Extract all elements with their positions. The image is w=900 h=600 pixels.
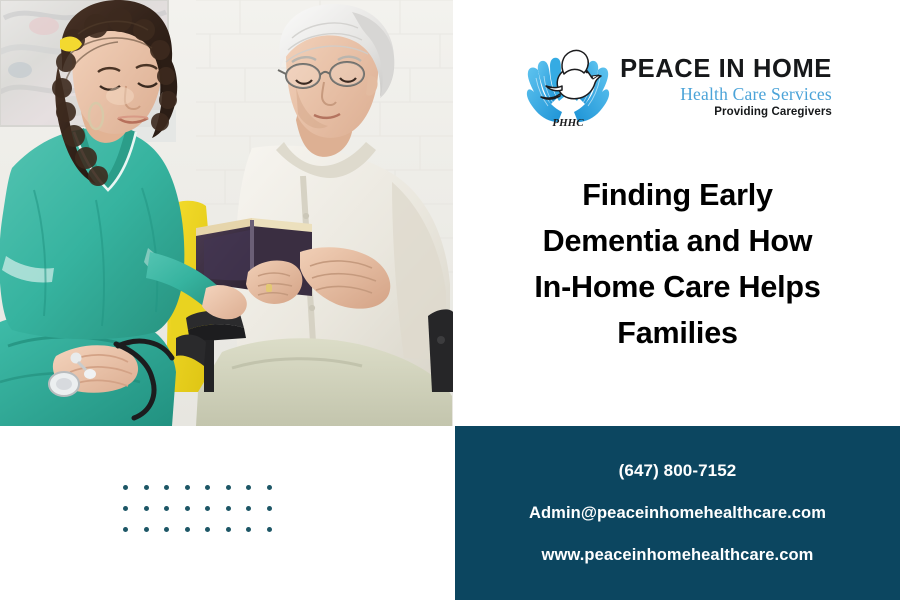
dot <box>205 527 210 532</box>
dot <box>164 506 169 511</box>
dot <box>164 485 169 490</box>
dot-grid-decoration <box>123 485 269 531</box>
page-title: Finding Early Dementia and How In-Home C… <box>467 172 888 356</box>
dot <box>144 527 149 532</box>
dot <box>185 506 190 511</box>
brand-wordmark: PEACE IN HOME Health Care Services Provi… <box>620 57 832 121</box>
dot <box>226 485 231 490</box>
brand-logo[interactable]: PHHC PEACE IN HOME Health Care Services … <box>473 46 883 132</box>
dove-in-cupped-hands-icon: PHHC <box>524 46 612 132</box>
dot <box>185 527 190 532</box>
dot <box>267 485 272 490</box>
dot <box>267 527 272 532</box>
dot <box>246 506 251 511</box>
photo-illustration <box>0 0 453 426</box>
contact-panel: (647) 800-7152 Admin@peaceinhomehealthca… <box>455 426 900 600</box>
dot <box>246 527 251 532</box>
headline-section: PHHC PEACE IN HOME Health Care Services … <box>455 0 900 426</box>
dot <box>123 485 128 490</box>
dot <box>226 527 231 532</box>
dot <box>164 527 169 532</box>
dot <box>123 527 128 532</box>
dot <box>246 485 251 490</box>
logo-mark-svg: PHHC <box>524 46 612 132</box>
dot <box>226 506 231 511</box>
headline-line-3: In-Home Care Helps <box>467 264 888 310</box>
brand-tagline: Providing Caregivers <box>714 107 832 119</box>
brand-name: PEACE IN HOME <box>620 57 832 83</box>
dot <box>144 506 149 511</box>
dot <box>267 506 272 511</box>
dot <box>205 506 210 511</box>
contact-website[interactable]: www.peaceinhomehealthcare.com <box>542 546 814 565</box>
logo-monogram: PHHC <box>552 117 584 129</box>
brand-subtitle: Health Care Services <box>680 86 832 104</box>
headline-line-4: Families <box>467 310 888 356</box>
caregiver-photo <box>0 0 453 426</box>
contact-phone[interactable]: (647) 800-7152 <box>619 461 737 481</box>
contact-email[interactable]: Admin@peaceinhomehealthcare.com <box>529 504 826 523</box>
dot <box>205 485 210 490</box>
dot <box>144 485 149 490</box>
headline-line-1: Finding Early <box>467 172 888 218</box>
dot <box>185 485 190 490</box>
headline-line-2: Dementia and How <box>467 218 888 264</box>
blog-promo-poster: PHHC PEACE IN HOME Health Care Services … <box>0 0 900 600</box>
dot <box>123 506 128 511</box>
